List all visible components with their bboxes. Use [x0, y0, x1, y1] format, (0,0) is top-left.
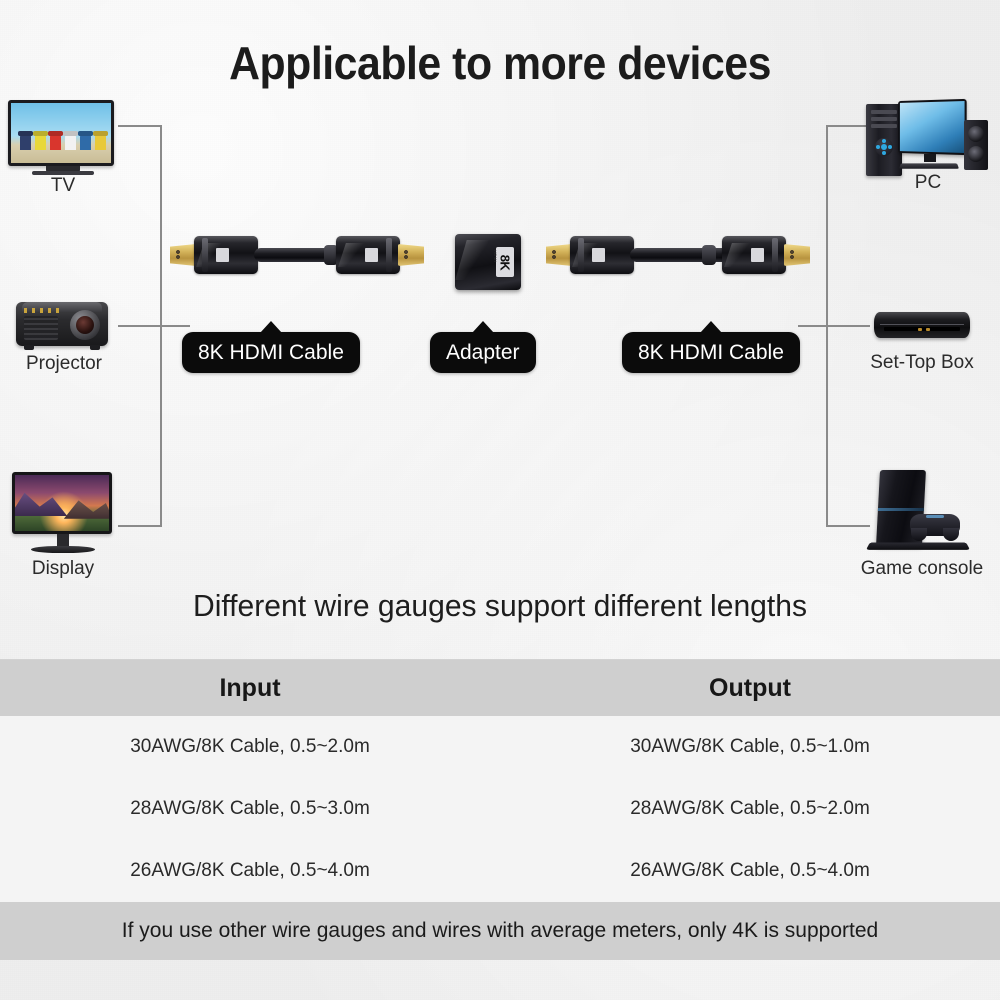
projector-lens [76, 316, 94, 334]
left-bracket-stub-tv [118, 125, 162, 127]
pc-monitor-screen [900, 101, 965, 153]
projector-lens-ring [70, 310, 100, 340]
device-label-pc: PC [866, 172, 990, 194]
hdmi-connector-shell-left [570, 236, 634, 274]
table-cell-output: 30AWG/8K Cable, 0.5~1.0m [500, 716, 1000, 778]
game-controller-icon [910, 514, 960, 536]
hdmi-wire [630, 248, 732, 262]
set-top-box-disc-slot [884, 327, 960, 331]
table-cell-input: 30AWG/8K Cable, 0.5~2.0m [0, 716, 500, 778]
table-header-output: Output [500, 660, 1000, 716]
pc-speaker [964, 120, 988, 170]
table-header-input: Input [0, 660, 500, 716]
hdmi-cable-right [546, 232, 812, 280]
right-bracket-stub-gameconsole [826, 525, 870, 527]
game-console-icon [868, 470, 988, 558]
right-bracket-stub-pc [826, 125, 870, 127]
monitor-icon [12, 472, 114, 556]
pc-keyboard [899, 163, 959, 168]
section-subtitle: Different wire gauges support different … [15, 588, 985, 624]
tv-bezel [8, 100, 114, 166]
device-label-display: Display [6, 558, 120, 580]
projector-body [16, 302, 108, 346]
table-cell-output: 26AWG/8K Cable, 0.5~4.0m [500, 840, 1000, 902]
hdmi-connector-shell-left [194, 236, 258, 274]
game-console-base [866, 542, 970, 549]
hdmi-connector-shell-right [722, 236, 786, 274]
infographic-page: Applicable to more devices TV [0, 0, 1000, 1000]
pc-tower [866, 104, 902, 176]
projector-vent [24, 316, 58, 340]
table-row: 26AWG/8K Cable, 0.5~4.0m 26AWG/8K Cable,… [0, 840, 1000, 902]
left-bracket-stub-display [118, 525, 162, 527]
right-bracket-stub-settopbox [826, 325, 870, 327]
table-header-row: Input Output [0, 660, 1000, 716]
right-bracket-feed [798, 325, 828, 327]
hdmi-wire [254, 248, 346, 262]
hdmi-plug-left [546, 244, 572, 266]
left-bracket-stub-projector [118, 325, 162, 327]
callout-right-cable: 8K HDMI Cable [622, 332, 800, 373]
callout-pointer [472, 321, 494, 333]
set-top-box-body [874, 312, 970, 338]
callout-pointer [700, 321, 722, 333]
callout-pointer [260, 321, 282, 333]
callout-right-cable-label: 8K HDMI Cable [638, 341, 784, 364]
hdmi-plug-left [170, 244, 196, 266]
table-cell-input: 28AWG/8K Cable, 0.5~3.0m [0, 778, 500, 840]
projector-icon [16, 296, 112, 354]
table-note-row: If you use other wire gauges and wires w… [0, 902, 1000, 960]
set-top-box-icon [874, 312, 970, 342]
table-note-text: If you use other wire gauges and wires w… [0, 902, 1000, 960]
device-label-set-top-box: Set-Top Box [856, 352, 988, 374]
hdmi-plug-right [398, 244, 424, 266]
monitor-foot [31, 546, 95, 553]
pc-monitor [898, 99, 967, 155]
hdmi-cable-left [170, 232, 426, 280]
monitor-screen [15, 475, 109, 531]
callout-adapter: Adapter [430, 332, 536, 373]
callout-left-cable-label: 8K HDMI Cable [198, 341, 344, 364]
device-label-game-console: Game console [846, 558, 998, 580]
device-label-tv: TV [8, 175, 118, 197]
adapter-8k-label: 8K HDMI [496, 247, 514, 277]
table-cell-input: 26AWG/8K Cable, 0.5~4.0m [0, 840, 500, 902]
callout-adapter-label: Adapter [446, 341, 520, 364]
table-row: 28AWG/8K Cable, 0.5~3.0m 28AWG/8K Cable,… [0, 778, 1000, 840]
adapter-hdmi-text: HDMI [493, 250, 498, 262]
adapter-8k-text: 8K [498, 254, 513, 270]
table-cell-output: 28AWG/8K Cable, 0.5~2.0m [500, 778, 1000, 840]
projector-indicator-row [24, 308, 60, 313]
pc-front-panel [875, 138, 893, 156]
left-bracket-feed [160, 325, 190, 327]
monitor-bezel [12, 472, 112, 534]
hdmi-plug-right [784, 244, 810, 266]
tv-icon [8, 100, 118, 180]
hdmi-connector-shell-right [336, 236, 400, 274]
page-title: Applicable to more devices [35, 36, 965, 90]
hdmi-adapter: 8K HDMI [455, 234, 521, 290]
spec-table: Input Output 30AWG/8K Cable, 0.5~2.0m 30… [0, 660, 1000, 960]
desktop-computer-icon [866, 98, 990, 178]
device-label-projector: Projector [2, 353, 126, 375]
callout-left-cable: 8K HDMI Cable [182, 332, 360, 373]
tv-screen [11, 103, 111, 163]
table-row: 30AWG/8K Cable, 0.5~2.0m 30AWG/8K Cable,… [0, 716, 1000, 778]
